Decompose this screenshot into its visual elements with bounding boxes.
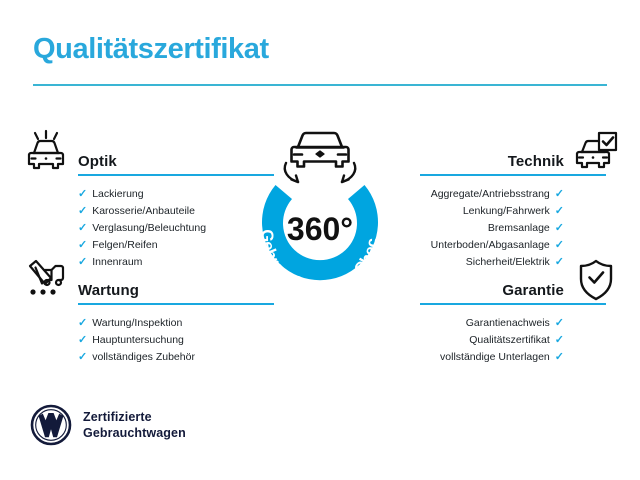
list-item-label: Wartung/Inspektion [92,317,182,329]
check-icon: ✓ [78,334,87,346]
vw-footer-line2: Gebrauchtwagen [83,425,186,441]
check-icon: ✓ [78,351,87,363]
list-item-label: Aggregate/Antriebsstrang [431,188,550,200]
list-item: ✓Lackierung [78,186,242,203]
list-item: Aggregate/Antriebsstrang✓ [400,186,564,203]
vw-footer-text: Zertifizierte Gebrauchtwagen [83,409,186,441]
list-item-label: Bremsanlage [488,222,550,234]
list-item: Garantienachweis✓ [400,315,564,332]
section-garantie-list: Garantienachweis✓ Qualitätszertifikat✓ v… [400,315,620,366]
title-divider [33,84,607,86]
360-badge: Gebrauchtwagen-Check 360° [238,123,402,309]
list-item: ✓Karosserie/Anbauteile [78,203,242,220]
list-item-label: Lackierung [92,188,143,200]
section-technik-underline [420,174,606,176]
badge-center-label: 360° [287,211,353,247]
section-garantie-underline [420,303,606,305]
section-wartung-list: ✓Wartung/Inspektion ✓Hauptuntersuchung ✓… [22,315,242,366]
check-icon: ✓ [78,188,87,200]
section-garantie-title: Garantie [400,282,564,300]
check-icon: ✓ [555,239,564,251]
check-icon: ✓ [555,205,564,217]
rotating-car-icon [285,133,356,182]
list-item-label: Hauptuntersuchung [92,334,184,346]
section-wartung-header: Wartung [22,257,242,305]
check-icon: ✓ [555,351,564,363]
shield-check-icon [572,257,620,303]
check-icon: ✓ [555,222,564,234]
list-item-label: Verglasung/Beleuchtung [92,222,206,234]
list-item: vollständige Unterlagen✓ [400,349,564,366]
section-optik: Optik ✓Lackierung ✓Karosserie/Anbauteile… [22,128,242,271]
list-item-label: Karosserie/Anbauteile [92,205,195,217]
shiny-car-icon [22,128,70,174]
car-checkbox-icon [572,128,620,174]
section-technik: Technik Aggregate/Antriebsstrang✓ Lenkun… [400,128,620,271]
list-item-label: Felgen/Reifen [92,239,157,251]
page-title: Qualitätszertifikat [33,33,269,66]
section-garantie: Garantie Garantienachweis✓ Qualitätszert… [400,257,620,366]
list-item-label: Qualitätszertifikat [469,334,550,346]
check-icon: ✓ [78,239,87,251]
car-service-pen-icon [22,257,70,303]
section-optik-header: Optik [22,128,242,176]
check-icon: ✓ [555,188,564,200]
list-item-label: Unterboden/Abgasanlage [431,239,550,251]
section-wartung: Wartung ✓Wartung/Inspektion ✓Hauptunters… [22,257,242,366]
check-icon: ✓ [78,317,87,329]
check-icon: ✓ [555,334,564,346]
check-icon: ✓ [78,205,87,217]
list-item: Qualitätszertifikat✓ [400,332,564,349]
list-item: ✓Verglasung/Beleuchtung [78,220,242,237]
section-technik-header: Technik [400,128,620,176]
section-optik-title: Optik [78,153,242,171]
section-garantie-header: Garantie [400,257,620,305]
list-item: ✓Wartung/Inspektion [78,315,242,332]
volkswagen-logo [30,404,72,446]
section-technik-title: Technik [400,153,564,171]
list-item-label: vollständiges Zubehör [92,351,195,363]
list-item-label: Garantienachweis [466,317,550,329]
vw-footer: Zertifizierte Gebrauchtwagen [30,404,186,446]
vw-footer-line1: Zertifizierte [83,409,186,425]
section-wartung-title: Wartung [78,282,242,300]
list-item: Unterboden/Abgasanlage✓ [400,237,564,254]
certificate-page: Qualitätszertifikat [0,0,640,480]
list-item: ✓Hauptuntersuchung [78,332,242,349]
list-item-label: vollständige Unterlagen [440,351,550,363]
check-icon: ✓ [555,317,564,329]
list-item: ✓vollständiges Zubehör [78,349,242,366]
list-item: Bremsanlage✓ [400,220,564,237]
check-icon: ✓ [78,222,87,234]
list-item: ✓Felgen/Reifen [78,237,242,254]
list-item: Lenkung/Fahrwerk✓ [400,203,564,220]
list-item-label: Lenkung/Fahrwerk [463,205,550,217]
